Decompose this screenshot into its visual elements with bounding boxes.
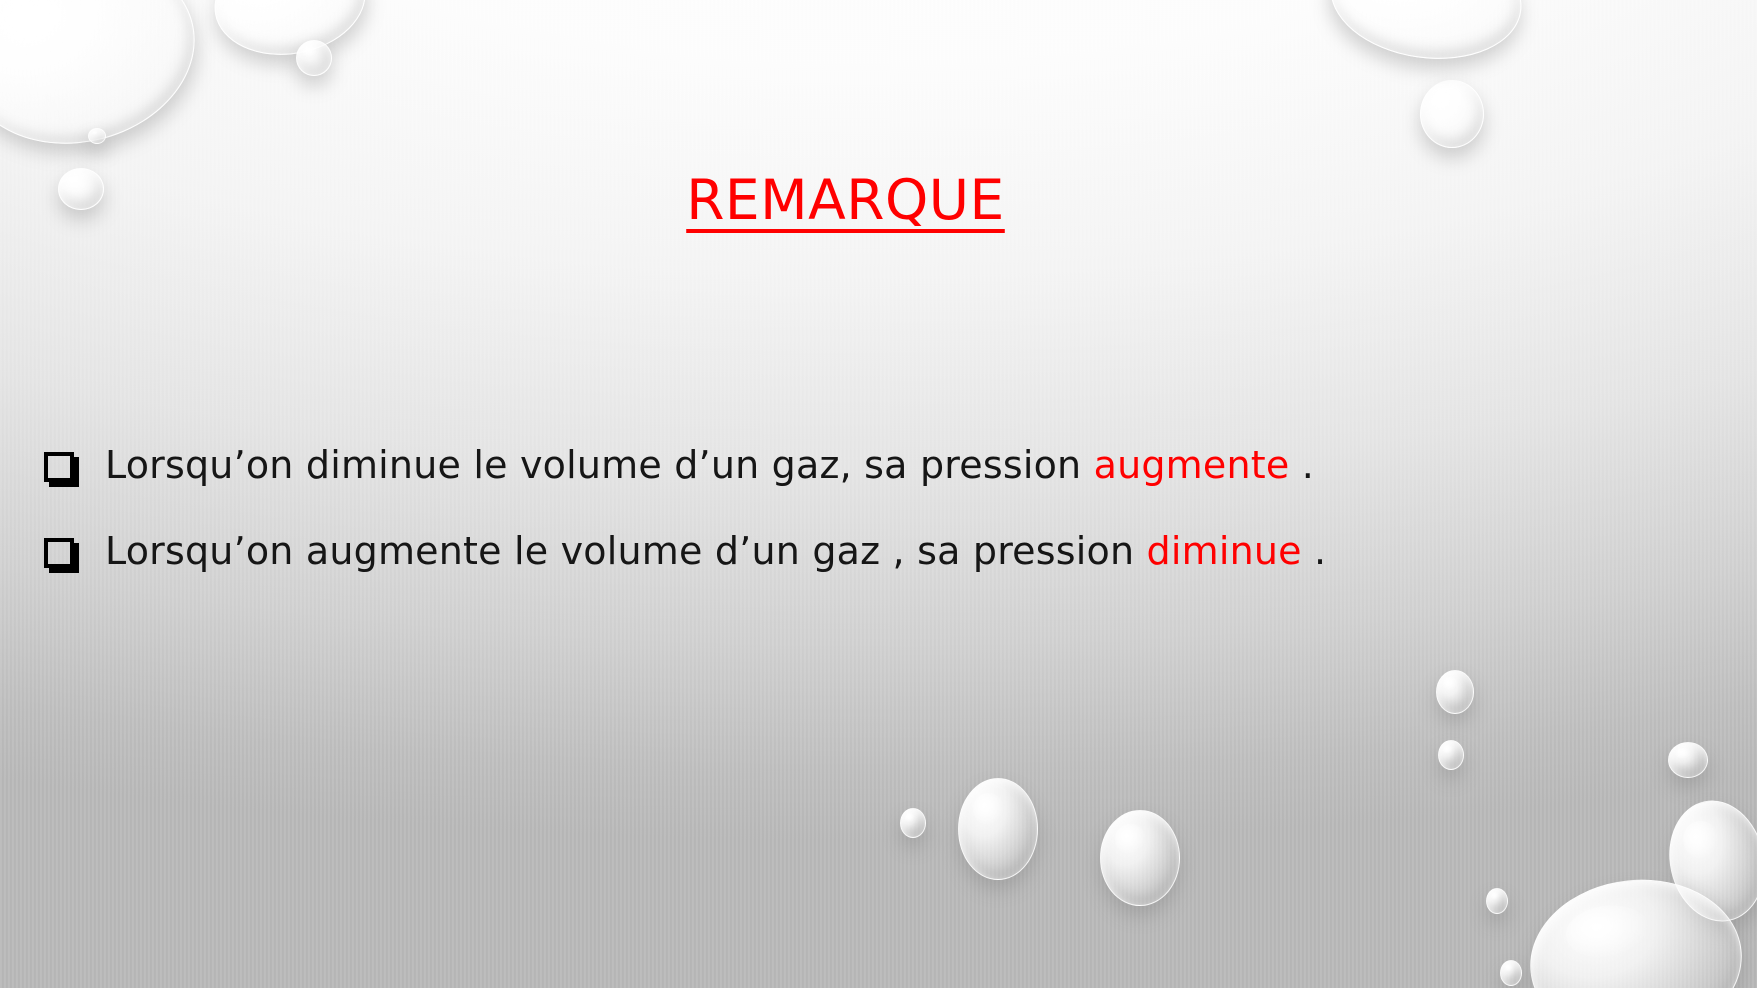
bullet-1-highlight: augmente <box>1094 443 1290 487</box>
droplet-bottom-mid-b-icon <box>1100 810 1180 906</box>
droplet-bottom-mid-a-icon <box>958 778 1038 880</box>
droplet-right-big-oval-icon <box>1658 792 1757 931</box>
list-item: Lorsqu’on diminue le volume d’un gaz, sa… <box>44 440 1664 490</box>
droplet-top-right-medium-icon <box>1420 80 1484 148</box>
bullet-2-highlight: diminue <box>1147 529 1302 573</box>
slide-canvas: REMARQUE Lorsqu’on diminue le volume d’u… <box>0 0 1757 988</box>
droplet-bottom-left-small-icon <box>900 808 926 838</box>
droplet-right-oval-icon <box>1436 670 1474 714</box>
droplet-bottom-right-tiny-icon <box>1486 888 1508 914</box>
droplet-top-left-upper-icon <box>206 0 374 66</box>
bullet-text-2: Lorsqu’on augmente le volume d’un gaz , … <box>105 526 1326 576</box>
square-bullet-icon <box>44 538 74 568</box>
droplet-bottom-right-dot-icon <box>1500 960 1522 986</box>
square-bullet-icon <box>44 452 74 482</box>
droplet-right-upper-icon <box>1438 740 1464 770</box>
droplet-top-left-large-icon <box>0 0 215 168</box>
bullet-1-segment-tail: . <box>1289 443 1314 487</box>
bullet-1-segment-lead: Lorsqu’on diminue le volume d’un gaz, sa… <box>105 443 1094 487</box>
droplet-right-mid-icon <box>1668 742 1708 778</box>
bullet-2-segment-lead: Lorsqu’on augmente le volume d’un gaz , … <box>105 529 1147 573</box>
page-title: REMARQUE <box>686 168 1005 232</box>
droplet-bottom-right-blob-icon <box>1522 869 1750 988</box>
droplet-top-right-large-icon <box>1323 0 1530 71</box>
title-container: REMARQUE <box>0 168 1757 232</box>
bullet-2-segment-tail: . <box>1302 529 1327 573</box>
droplet-top-left-tiny-icon <box>88 128 106 144</box>
bullet-list: Lorsqu’on diminue le volume d’un gaz, sa… <box>44 440 1664 612</box>
bullet-text-1: Lorsqu’on diminue le volume d’un gaz, sa… <box>105 440 1314 490</box>
droplet-top-left-small-a-icon <box>296 40 332 76</box>
list-item: Lorsqu’on augmente le volume d’un gaz , … <box>44 526 1664 576</box>
